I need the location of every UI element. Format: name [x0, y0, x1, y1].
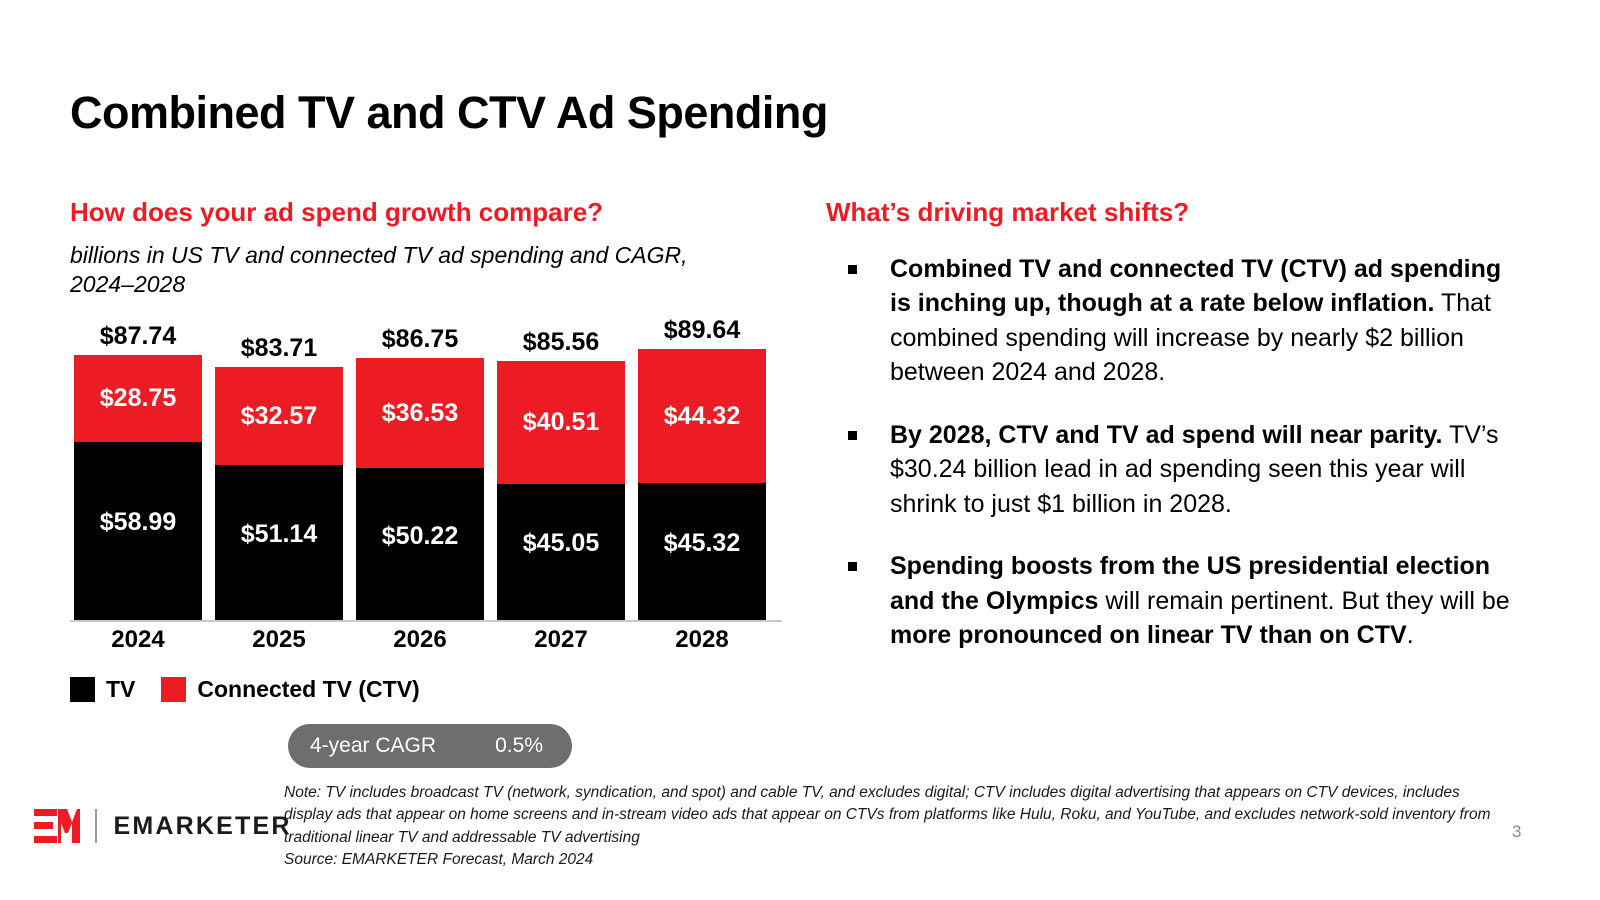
bar-stack: $28.75$58.99	[74, 355, 202, 620]
page-number: 3	[1512, 822, 1521, 842]
ctv-swatch	[161, 677, 186, 702]
bar-segment-ctv: $32.57	[215, 367, 343, 465]
legend-label: TV	[106, 676, 135, 703]
left-section-heading: How does your ad spend growth compare?	[70, 198, 800, 228]
bullet-item: Spending boosts from the US presidential…	[826, 549, 1526, 653]
bar-segment-ctv: $40.51	[497, 361, 625, 483]
footnote-block: Note: TV includes broadcast TV (network,…	[284, 782, 1499, 871]
bar-total-label: $87.74	[74, 322, 202, 351]
bullet-text: By 2028, CTV and TV ad spend will near p…	[890, 421, 1499, 518]
x-axis-tick-2024: 2024	[74, 626, 202, 654]
chart-plot-area: $87.74$28.75$58.99$83.71$32.57$51.14$86.…	[70, 312, 790, 620]
x-axis-tick-2028: 2028	[638, 626, 766, 654]
bar-segment-label-ctv: $32.57	[241, 402, 317, 431]
bar-segment-label-tv: $45.32	[664, 529, 740, 558]
bar-segment-label-tv: $50.22	[382, 522, 458, 551]
right-column: What’s driving market shifts? Combined T…	[826, 198, 1526, 653]
chart-legend: TVConnected TV (CTV)	[70, 676, 446, 703]
bullet-text: Combined TV and connected TV (CTV) ad sp…	[890, 255, 1501, 387]
right-section-heading: What’s driving market shifts?	[826, 198, 1526, 228]
bar-stack: $32.57$51.14	[215, 367, 343, 620]
footnote-source: Source: EMARKETER Forecast, March 2024	[284, 849, 1499, 871]
logo-wordmark: EMARKETER	[114, 812, 292, 841]
bar-stack: $36.53$50.22	[356, 358, 484, 620]
x-axis-tick-2026: 2026	[356, 626, 484, 654]
bar-total-label: $85.56	[497, 328, 625, 357]
bar-segment-label-ctv: $28.75	[100, 384, 176, 413]
bar-group-2026: $86.75$36.53$50.22	[356, 312, 484, 620]
bar-segment-ctv: $36.53	[356, 358, 484, 468]
bar-segment-label-tv: $51.14	[241, 520, 317, 549]
x-axis-tick-2025: 2025	[215, 626, 343, 654]
bar-segment-label-tv: $58.99	[100, 508, 176, 537]
bar-group-2028: $89.64$44.32$45.32	[638, 312, 766, 620]
bar-segment-label-ctv: $40.51	[523, 408, 599, 437]
bullet-marker-icon	[848, 562, 857, 571]
tv-swatch	[70, 677, 95, 702]
legend-item-tv: TV	[70, 676, 135, 703]
bar-segment-tv: $45.32	[638, 483, 766, 620]
bar-group-2024: $87.74$28.75$58.99	[74, 312, 202, 620]
bar-segment-ctv: $28.75	[74, 355, 202, 442]
legend-label: Connected TV (CTV)	[197, 676, 419, 703]
logo-divider	[95, 809, 97, 843]
bullet-item: By 2028, CTV and TV ad spend will near p…	[826, 418, 1526, 522]
cagr-badge: 4-year CAGR 0.5%	[288, 724, 572, 768]
bullet-bold-tail: more pronounced on linear TV than on CTV	[890, 621, 1407, 649]
bar-stack: $40.51$45.05	[497, 361, 625, 620]
bar-total-label: $83.71	[215, 334, 343, 363]
chart-subtitle: billions in US TV and connected TV ad sp…	[70, 241, 710, 300]
x-axis-tick-2027: 2027	[497, 626, 625, 654]
bar-stack: $44.32$45.32	[638, 349, 766, 620]
bar-segment-tv: $45.05	[497, 484, 625, 620]
x-axis-line	[70, 620, 782, 622]
bar-group-2025: $83.71$32.57$51.14	[215, 312, 343, 620]
bullet-marker-icon	[848, 431, 857, 440]
bullet-bold-lead: Spending boosts from the US presidential…	[890, 552, 1490, 615]
bar-segment-ctv: $44.32	[638, 349, 766, 483]
bar-segment-label-ctv: $36.53	[382, 399, 458, 428]
left-column: How does your ad spend growth compare? b…	[70, 198, 800, 300]
bullet-bold-lead: Combined TV and connected TV (CTV) ad sp…	[890, 255, 1501, 318]
bullet-bold-lead: By 2028, CTV and TV ad spend will near p…	[890, 421, 1442, 449]
bar-segment-label-ctv: $44.32	[664, 402, 740, 431]
bullet-item: Combined TV and connected TV (CTV) ad sp…	[826, 252, 1526, 390]
emarketer-logo: EMARKETER	[34, 806, 292, 846]
bar-total-label: $86.75	[356, 325, 484, 354]
bar-segment-tv: $51.14	[215, 465, 343, 620]
bar-segment-tv: $58.99	[74, 442, 202, 620]
page-title: Combined TV and CTV Ad Spending	[70, 88, 828, 138]
bar-segment-tv: $50.22	[356, 468, 484, 620]
bullet-text: Spending boosts from the US presidential…	[890, 552, 1510, 649]
footnote-note: Note: TV includes broadcast TV (network,…	[284, 782, 1499, 849]
cagr-value: 0.5%	[495, 734, 543, 758]
em-monogram-icon	[34, 809, 80, 843]
cagr-label: 4-year CAGR	[310, 734, 436, 758]
legend-item-ctv: Connected TV (CTV)	[161, 676, 419, 703]
bar-segment-label-tv: $45.05	[523, 529, 599, 558]
bar-group-2027: $85.56$40.51$45.05	[497, 312, 625, 620]
bullet-list: Combined TV and connected TV (CTV) ad sp…	[826, 252, 1526, 653]
bullet-marker-icon	[848, 265, 857, 274]
bar-total-label: $89.64	[638, 316, 766, 345]
stacked-bar-chart: $87.74$28.75$58.99$83.71$32.57$51.14$86.…	[70, 312, 790, 657]
